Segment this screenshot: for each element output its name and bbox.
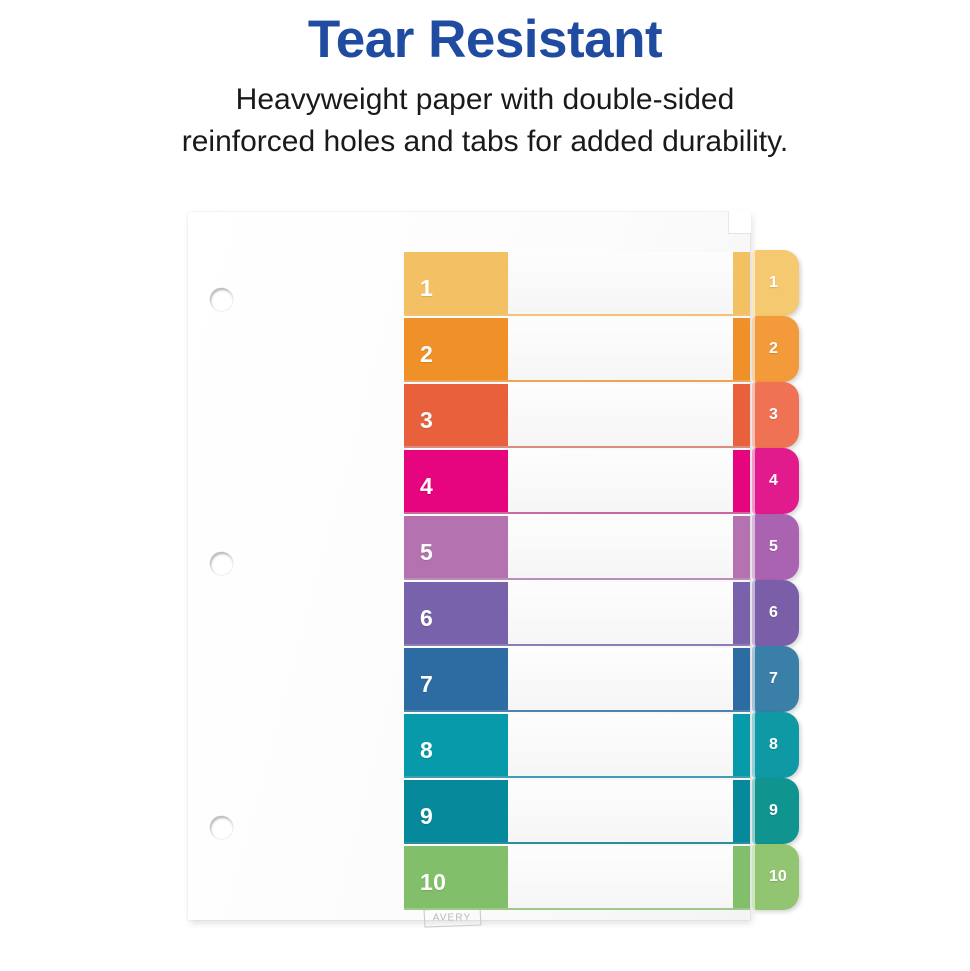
divider-number-block: 6	[404, 582, 508, 644]
divider-number-label: 4	[420, 473, 433, 500]
divider-tab-8[interactable]: 8	[752, 712, 799, 778]
divider-number-block: 1	[404, 252, 508, 314]
divider-rows: 1122334455667788991010	[0, 186, 970, 971]
divider-number-block: 7	[404, 648, 508, 710]
divider-number-block: 9	[404, 780, 508, 842]
divider-rule	[404, 512, 750, 514]
divider-tab-5[interactable]: 5	[752, 514, 799, 580]
divider-number-label: 9	[420, 803, 433, 830]
divider-tab-7[interactable]: 7	[752, 646, 799, 712]
page-subtitle: Heavyweight paper with double-sided rein…	[0, 69, 970, 162]
divider-tab-2[interactable]: 2	[752, 316, 799, 382]
divider-tab-stub	[733, 846, 750, 908]
divider-rule	[404, 446, 750, 448]
divider-rule	[404, 908, 750, 910]
divider-tab-stub	[733, 714, 750, 776]
divider-tab-6[interactable]: 6	[752, 580, 799, 646]
divider-number-label: 1	[420, 275, 433, 302]
divider-tab-4[interactable]: 4	[752, 448, 799, 514]
divider-tab-number-label: 10	[769, 868, 787, 886]
divider-rule	[404, 380, 750, 382]
divider-tab-1[interactable]: 1	[752, 250, 799, 316]
divider-number-label: 2	[420, 341, 433, 368]
divider-tab-stub	[733, 318, 750, 380]
page-title: Tear Resistant	[0, 0, 970, 69]
divider-tab-stub	[733, 780, 750, 842]
divider-tab-number-label: 5	[769, 538, 778, 556]
divider-number-label: 6	[420, 605, 433, 632]
divider-number-block: 3	[404, 384, 508, 446]
divider-rule	[404, 710, 750, 712]
divider-number-label: 7	[420, 671, 433, 698]
divider-number-label: 5	[420, 539, 433, 566]
divider-tab-3[interactable]: 3	[752, 382, 799, 448]
divider-tab-stub	[733, 516, 750, 578]
divider-tab-number-label: 4	[769, 472, 778, 490]
divider-tab-10[interactable]: 10	[752, 844, 799, 910]
divider-rule	[404, 644, 750, 646]
subtitle-line-2: reinforced holes and tabs for added dura…	[0, 121, 970, 162]
product-image: AVERY 1122334455667788991010	[0, 186, 970, 971]
divider-number-block: 10	[404, 846, 508, 908]
divider-tab-stub	[733, 252, 750, 314]
divider-tab-stub	[733, 648, 750, 710]
divider-number-block: 5	[404, 516, 508, 578]
divider-tab-stub	[733, 582, 750, 644]
header: Tear Resistant Heavyweight paper with do…	[0, 0, 970, 162]
divider-number-label: 3	[420, 407, 433, 434]
divider-rule	[404, 578, 750, 580]
divider-rule	[404, 314, 750, 316]
divider-number-block: 8	[404, 714, 508, 776]
divider-tab-stub	[733, 450, 750, 512]
divider-number-block: 2	[404, 318, 508, 380]
divider-tab-number-label: 1	[769, 274, 778, 292]
divider-tab-number-label: 2	[769, 340, 778, 358]
divider-tab-number-label: 6	[769, 604, 778, 622]
subtitle-line-1: Heavyweight paper with double-sided	[0, 79, 970, 120]
divider-rule	[404, 842, 750, 844]
divider-tab-number-label: 3	[769, 406, 778, 424]
divider-number-label: 10	[420, 869, 446, 896]
divider-tab-number-label: 7	[769, 670, 778, 688]
divider-tab-stub	[733, 384, 750, 446]
divider-rule	[404, 776, 750, 778]
divider-number-block: 4	[404, 450, 508, 512]
divider-tab-number-label: 9	[769, 802, 778, 820]
divider-tab-number-label: 8	[769, 736, 778, 754]
divider-tab-9[interactable]: 9	[752, 778, 799, 844]
divider-number-label: 8	[420, 737, 433, 764]
